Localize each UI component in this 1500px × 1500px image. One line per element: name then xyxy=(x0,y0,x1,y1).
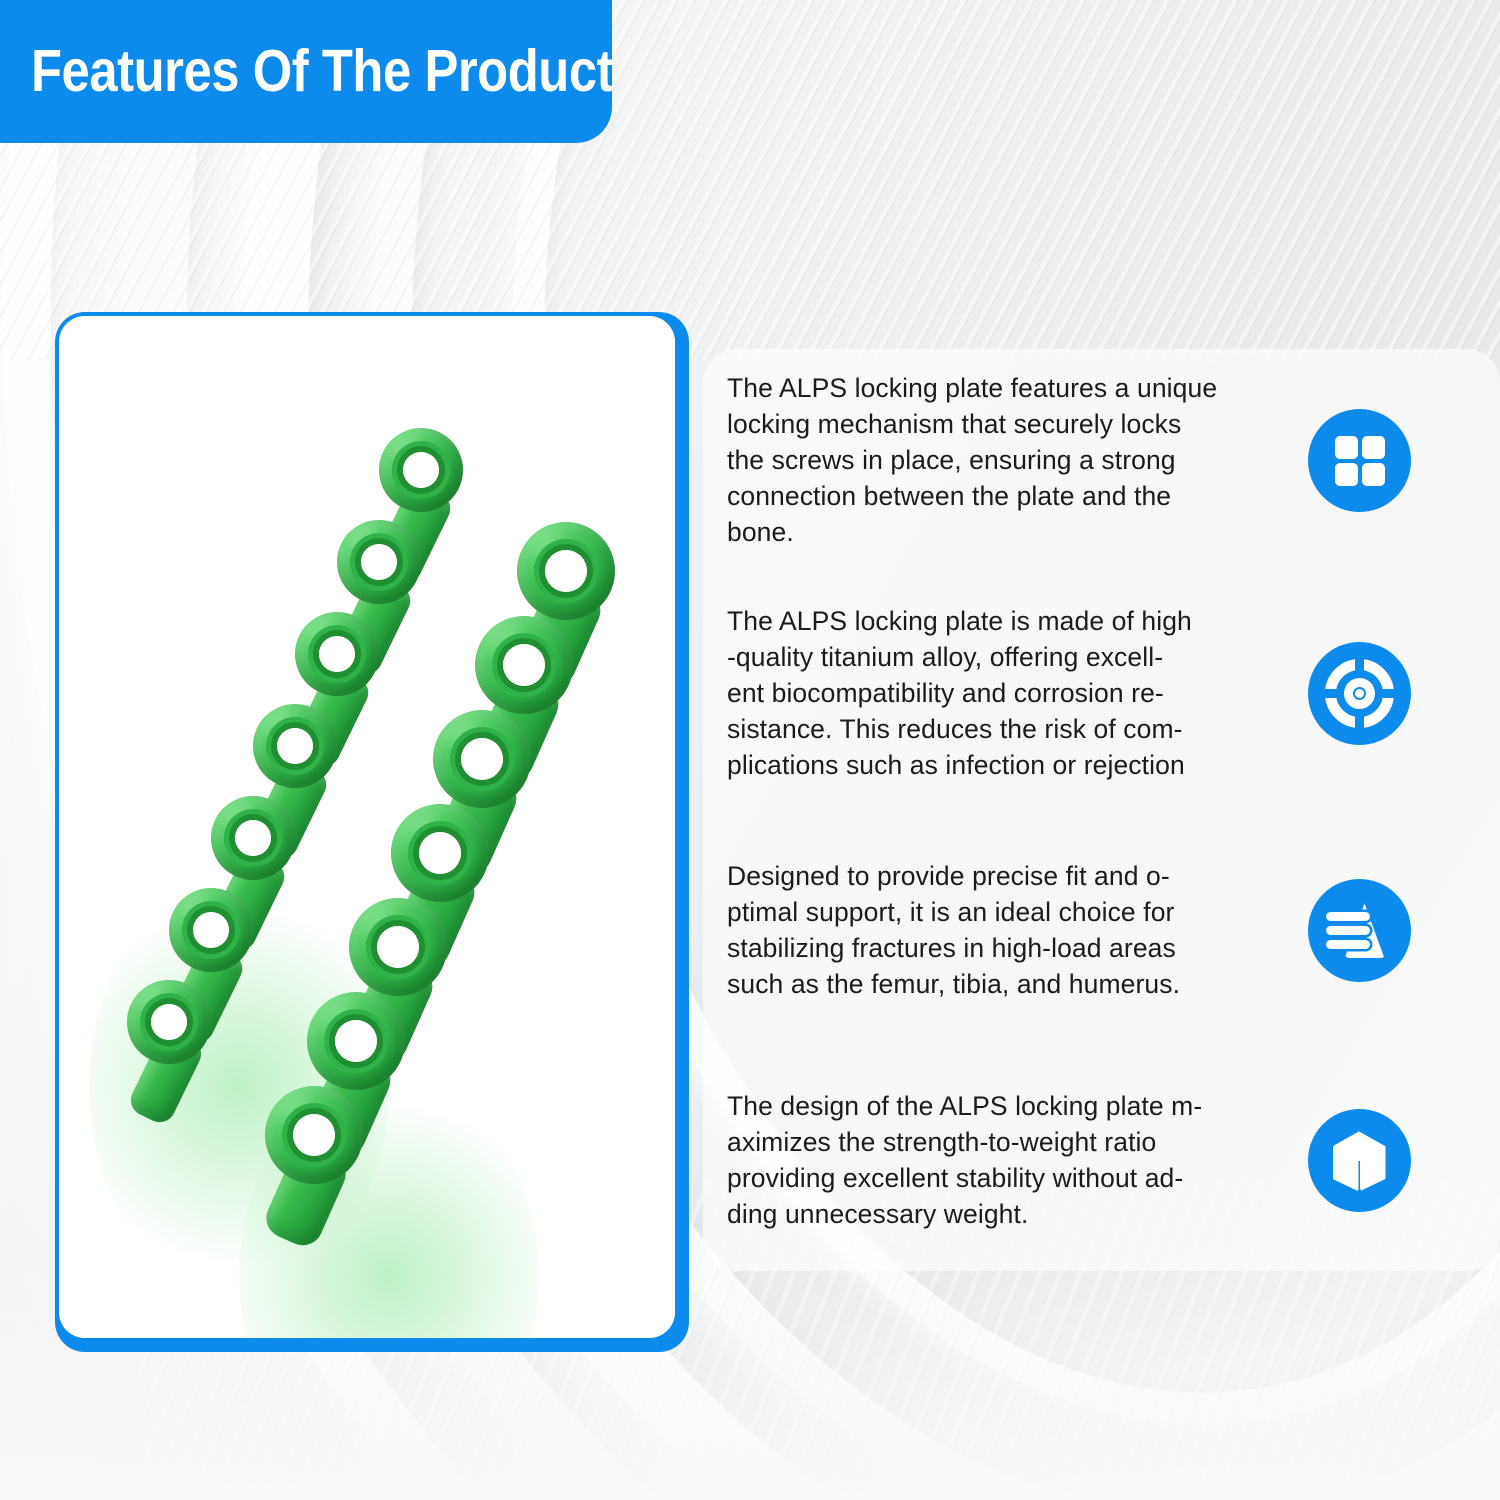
layers-triangle-icon-bar xyxy=(1326,926,1370,935)
target-icon-gap xyxy=(1380,689,1400,698)
layers-triangle-icon-bar xyxy=(1326,940,1370,949)
card-interior xyxy=(59,316,675,1338)
feature-description: The ALPS locking plate features a unique… xyxy=(703,371,1243,551)
target-icon-center-dot xyxy=(1355,689,1364,698)
box-3d-icon xyxy=(1308,1109,1411,1212)
grid-icon-cell xyxy=(1335,463,1358,486)
feature-item: The ALPS locking plate is made of high -… xyxy=(703,604,1500,784)
target-icon xyxy=(1308,642,1411,745)
feature-icon-slot xyxy=(1243,642,1475,745)
feature-description: Designed to provide precise fit and o- p… xyxy=(703,859,1243,1003)
feature-icon-slot xyxy=(1243,409,1475,512)
product-photo xyxy=(59,316,675,1338)
feature-item: Designed to provide precise fit and o- p… xyxy=(703,859,1500,1003)
feature-description: The ALPS locking plate is made of high -… xyxy=(703,604,1243,784)
product-image-card xyxy=(55,312,689,1352)
target-icon-gap xyxy=(1320,689,1340,698)
feature-item: The ALPS locking plate features a unique… xyxy=(703,371,1500,551)
target-icon-gap xyxy=(1355,654,1364,674)
feature-icon-slot xyxy=(1243,879,1475,982)
feature-list: The ALPS locking plate features a unique… xyxy=(703,349,1500,1271)
layers-triangle-icon xyxy=(1308,879,1411,982)
feature-description: The design of the ALPS locking plate m- … xyxy=(703,1089,1243,1233)
grid-icon-cell xyxy=(1335,436,1358,459)
feature-item: The design of the ALPS locking plate m- … xyxy=(703,1089,1500,1233)
target-icon-gap xyxy=(1355,714,1364,734)
infographic-canvas: Features Of The Product xyxy=(0,0,1500,1500)
feature-icon-slot xyxy=(1243,1109,1475,1212)
grid-icon xyxy=(1308,409,1411,512)
title-banner: Features Of The Product xyxy=(0,0,612,143)
layers-triangle-icon-bars xyxy=(1326,912,1370,950)
grid-icon-cell xyxy=(1362,463,1385,486)
page-title: Features Of The Product xyxy=(0,42,613,101)
layers-triangle-icon-bar xyxy=(1326,912,1370,921)
grid-icon-cell xyxy=(1362,436,1385,459)
